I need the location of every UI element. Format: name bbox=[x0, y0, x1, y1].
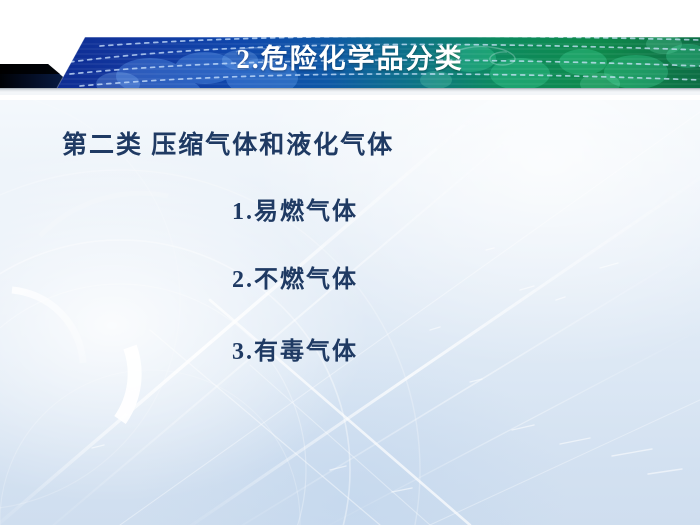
header-divider bbox=[0, 88, 700, 92]
content-heading: 第二类 压缩气体和液化气体 bbox=[62, 133, 394, 158]
slide-header: 2.危险化学品分类 bbox=[0, 0, 700, 100]
page-title: 2.危险化学品分类 bbox=[0, 46, 700, 73]
list-item-1: 1.易燃气体 bbox=[232, 200, 358, 224]
list-item-2: 2.不燃气体 bbox=[232, 268, 358, 292]
presentation-slide: 2.危险化学品分类 第二类 压缩气体和液化气体 1.易燃气体 2.不燃气体 3.… bbox=[0, 0, 700, 525]
slide-content: 第二类 压缩气体和液化气体 1.易燃气体 2.不燃气体 3.有毒气体 bbox=[0, 100, 700, 525]
list-item-3: 3.有毒气体 bbox=[232, 340, 358, 364]
